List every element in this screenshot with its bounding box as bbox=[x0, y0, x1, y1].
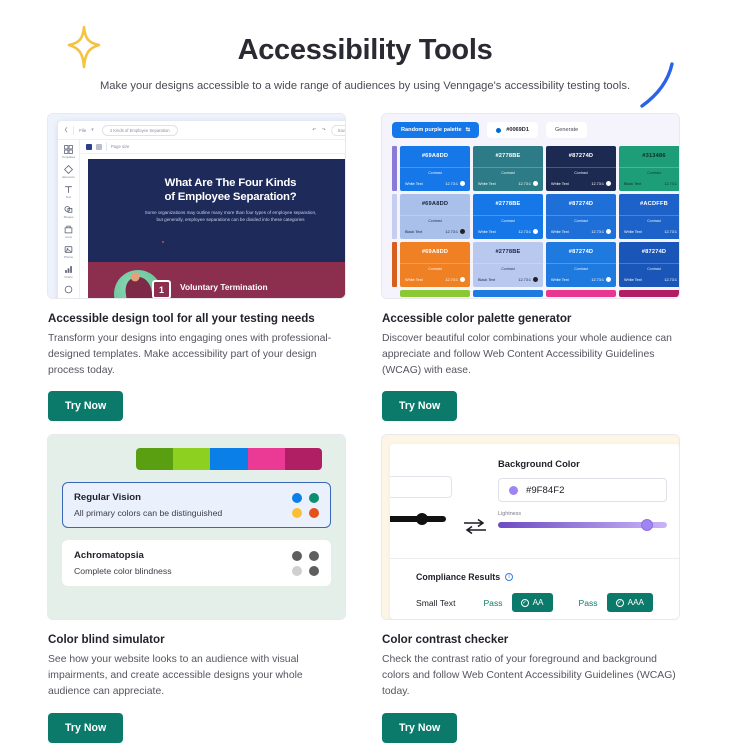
color-dot bbox=[309, 508, 319, 518]
redo-icon[interactable]: ↷ bbox=[322, 127, 326, 133]
palette-bottom-strip bbox=[400, 290, 679, 297]
lightness-slider[interactable] bbox=[498, 522, 667, 528]
swatch-contrast-label: Contrast bbox=[574, 171, 588, 175]
foreground-color-field[interactable] bbox=[390, 476, 452, 498]
page-size-label[interactable]: Page size bbox=[111, 144, 129, 149]
editor-sidebar: Templates Elements bbox=[58, 140, 80, 298]
sidebar-label: Charts bbox=[64, 275, 73, 279]
swatch-contrast-label: Contrast bbox=[574, 267, 588, 271]
check-circle-icon bbox=[533, 229, 538, 234]
swatch-ratio: 12.73:1 bbox=[518, 230, 531, 234]
swatch-text-mode: White Text bbox=[551, 230, 569, 234]
swatch-contrast-label: Contrast bbox=[501, 171, 515, 175]
vision-dots bbox=[292, 551, 319, 576]
try-now-button[interactable]: Try Now bbox=[48, 391, 123, 421]
palette-swatch[interactable]: #2778BEContrastBlack Text12.73:1 bbox=[473, 242, 543, 287]
lightness-label: Lightness bbox=[498, 511, 667, 517]
divider bbox=[473, 263, 543, 264]
swatch-contrast-label: Contrast bbox=[428, 171, 442, 175]
palette-swatch[interactable]: #87274DContrastWhite Text12.73:1 bbox=[546, 194, 616, 239]
swatch-text-mode: White Text bbox=[624, 278, 642, 282]
background-color-label: Background Color bbox=[498, 458, 667, 469]
tool-card-contrast: Background Color #9F84F2 Lightness bbox=[382, 435, 679, 742]
color-dot bbox=[292, 566, 302, 576]
swatch-contrast-label: Contrast bbox=[647, 219, 661, 223]
text-icon bbox=[64, 185, 73, 194]
badge-label: AA bbox=[533, 598, 544, 607]
sidebar-label: Templates bbox=[62, 155, 75, 159]
color-swatch bbox=[210, 448, 247, 470]
card-title: Color blind simulator bbox=[48, 633, 345, 646]
swatch-ratio: 12.73:1 bbox=[445, 278, 458, 282]
sidebar-label: Icons bbox=[65, 235, 72, 239]
palette-swatch[interactable]: #2778BEContrastWhite Text12.73:1 bbox=[473, 146, 543, 191]
swatch-hex: #87274D bbox=[569, 153, 594, 159]
photos-icon bbox=[64, 245, 73, 254]
check-circle-icon: ✓ bbox=[521, 599, 529, 607]
design-tool-thumbnail[interactable]: ❮ File ▾ 4 Kinds of Employee Separation … bbox=[48, 114, 345, 298]
art-heading-line1: What Are The Four Kinds bbox=[100, 176, 345, 190]
vision-dots bbox=[292, 493, 319, 518]
generate-button[interactable]: Generate bbox=[546, 122, 587, 138]
sidebar-item-templates[interactable]: Templates bbox=[62, 145, 75, 159]
card-description: See how your website looks to an audienc… bbox=[48, 652, 345, 699]
tool-card-design: ❮ File ▾ 4 Kinds of Employee Separation … bbox=[48, 114, 345, 421]
swatch-text-mode: White Text bbox=[551, 278, 569, 282]
swatch-text-mode: Black Text bbox=[624, 182, 641, 186]
card-description: Transform your designs into engaging one… bbox=[48, 331, 345, 378]
palette-rail bbox=[392, 146, 397, 297]
slider-knob[interactable] bbox=[416, 513, 428, 525]
swatch-ratio: 12.73:1 bbox=[518, 182, 531, 186]
compliance-badge-aaa: ✓ AAA bbox=[607, 593, 653, 612]
frames-icon bbox=[64, 285, 73, 294]
color-dot bbox=[309, 551, 319, 561]
divider bbox=[473, 167, 543, 168]
swatch-ratio: 12.73:1 bbox=[518, 278, 531, 282]
swoosh-icon bbox=[636, 62, 682, 108]
palette-toolbar: Random purple palette ⇆ #0069D1 Generate bbox=[392, 122, 679, 138]
swatch-ratio: 12.73:1 bbox=[664, 278, 677, 282]
card-description: Discover beautiful color combinations yo… bbox=[382, 331, 679, 378]
try-now-button[interactable]: Try Now bbox=[48, 713, 123, 743]
check-circle-icon bbox=[460, 277, 465, 282]
hex-input[interactable]: #0069D1 bbox=[487, 122, 538, 138]
art-step-number: 1 bbox=[152, 280, 171, 298]
swatch-ratio: 12.73:1 bbox=[445, 182, 458, 186]
palette-swatch[interactable]: #87274DContrastWhite Text12.73:1 bbox=[619, 242, 679, 287]
background-color-field[interactable]: #9F84F2 bbox=[498, 478, 667, 502]
palette-strip-swatch bbox=[400, 290, 470, 297]
sidebar-label: Photos bbox=[64, 255, 73, 259]
page-title: Accessibility Tools bbox=[0, 34, 730, 67]
vision-mode-name: Achromatopsia bbox=[74, 550, 172, 561]
vision-mode-achromatopsia[interactable]: Achromatopsia Complete color blindness bbox=[62, 540, 331, 586]
card-title: Color contrast checker bbox=[382, 633, 679, 646]
divider bbox=[619, 263, 679, 264]
check-circle-icon bbox=[533, 181, 538, 186]
background-hex-value: #9F84F2 bbox=[526, 485, 564, 496]
palette-strip-swatch bbox=[473, 290, 543, 297]
color-dot bbox=[292, 508, 302, 518]
swatch-ratio: 12.73:1 bbox=[664, 230, 677, 234]
color-blind-simulator-thumbnail[interactable]: Regular Vision All primary colors can be… bbox=[48, 435, 345, 619]
swatch-hex: #2778BE bbox=[495, 201, 520, 207]
swatch-contrast-label: Contrast bbox=[574, 219, 588, 223]
swatch-text-mode: White Text bbox=[405, 182, 423, 186]
art-heading-line2: of Employee Separation? bbox=[100, 190, 345, 204]
cursor-dot bbox=[162, 241, 164, 243]
divider bbox=[546, 263, 616, 264]
divider bbox=[546, 215, 616, 216]
sidebar-item-text[interactable]: Text bbox=[64, 185, 73, 199]
random-palette-button[interactable]: Random purple palette ⇆ bbox=[392, 122, 479, 138]
saved-status: Saved bbox=[331, 125, 345, 136]
swatch-ratio: 12.73:1 bbox=[591, 182, 604, 186]
swap-arrows-icon[interactable] bbox=[452, 458, 498, 558]
palette-swatch[interactable]: #69A8DDContrastBlack Text12.73:1 bbox=[400, 194, 470, 239]
divider bbox=[546, 167, 616, 168]
check-circle-icon bbox=[533, 277, 538, 282]
grid-icon[interactable] bbox=[96, 144, 102, 150]
check-circle-icon: ✓ bbox=[616, 599, 624, 607]
sidebar-item-charts[interactable]: Charts bbox=[64, 265, 73, 279]
icons-icon bbox=[64, 225, 73, 234]
divider bbox=[106, 142, 107, 151]
page-header: Accessibility Tools Make your designs ac… bbox=[0, 0, 730, 92]
swatch-text-mode: White Text bbox=[624, 230, 642, 234]
sparkle-icon bbox=[62, 23, 106, 71]
card-description: Check the contrast ratio of your foregro… bbox=[382, 652, 679, 699]
badge-label: AAA bbox=[628, 598, 644, 607]
color-dot bbox=[292, 493, 302, 503]
swatch-hex: #87274D bbox=[569, 201, 594, 207]
check-circle-icon bbox=[606, 277, 611, 282]
card-title: Accessible color palette generator bbox=[382, 312, 679, 325]
slider-knob[interactable] bbox=[641, 519, 653, 531]
card-title: Accessible design tool for all your test… bbox=[48, 312, 345, 325]
palette-strip-swatch bbox=[619, 290, 679, 297]
sidebar-label: Shapes bbox=[64, 215, 74, 219]
divider bbox=[619, 215, 679, 216]
color-swatch bbox=[136, 448, 173, 470]
canvas-artboard: What Are The Four Kinds of Employee Sepa… bbox=[88, 159, 345, 298]
palette-swatch[interactable]: #87274DContrastWhite Text12.73:1 bbox=[546, 242, 616, 287]
palette-grid: #69A8DDContrastWhite Text12.73:1#2778BEC… bbox=[400, 146, 679, 287]
color-swatch bbox=[248, 448, 285, 470]
sidebar-item-icons[interactable]: Icons bbox=[64, 225, 73, 239]
palette-generator-thumbnail[interactable]: Random purple palette ⇆ #0069D1 Generate bbox=[382, 114, 679, 298]
filename-field[interactable]: 4 Kinds of Employee Separation bbox=[102, 125, 178, 136]
check-circle-icon bbox=[606, 181, 611, 186]
divider bbox=[400, 263, 470, 264]
swatch-contrast-label: Contrast bbox=[647, 171, 661, 175]
palette-strip-swatch bbox=[546, 290, 616, 297]
color-dot-icon bbox=[509, 486, 518, 495]
tools-grid: ❮ File ▾ 4 Kinds of Employee Separation … bbox=[0, 114, 730, 743]
swatch-hex: #69A8DD bbox=[422, 249, 448, 255]
swatch-text-mode: Black Text bbox=[405, 230, 422, 234]
compliance-row-label: Small Text bbox=[416, 598, 483, 608]
palette-row: #69A8DDContrastWhite Text12.73:1#2778BEC… bbox=[400, 242, 679, 287]
compliance-status-aa: Pass bbox=[483, 598, 511, 608]
color-swatch bbox=[173, 448, 210, 470]
art-paragraph-line2: but generally, employee separations can … bbox=[104, 217, 345, 224]
tool-card-palette: Random purple palette ⇆ #0069D1 Generate bbox=[382, 114, 679, 421]
file-menu[interactable]: File bbox=[79, 128, 86, 133]
swatch-text-mode: White Text bbox=[478, 182, 496, 186]
compliance-results-title: Compliance Results bbox=[416, 572, 500, 582]
sidebar-label: Text bbox=[66, 195, 71, 199]
templates-icon bbox=[64, 145, 73, 154]
hex-value: #0069D1 bbox=[506, 127, 529, 133]
color-dot bbox=[309, 566, 319, 576]
elements-icon bbox=[64, 165, 73, 174]
palette-swatch[interactable]: #69A8DDContrastWhite Text12.73:1 bbox=[400, 146, 470, 191]
swatch-hex: #2778BE bbox=[495, 249, 520, 255]
swatch-ratio: 12.73:1 bbox=[591, 278, 604, 282]
swatch-contrast-label: Contrast bbox=[647, 267, 661, 271]
charts-icon bbox=[64, 265, 73, 274]
art-item-title: Voluntary Termination bbox=[180, 282, 268, 292]
chevron-down-icon: ▾ bbox=[91, 127, 94, 133]
info-icon[interactable]: i bbox=[505, 573, 513, 581]
sidebar-item-shapes[interactable]: Shapes bbox=[64, 205, 74, 219]
swatch-contrast-label: Contrast bbox=[501, 267, 515, 271]
sidebar-item-photos[interactable]: Photos bbox=[64, 245, 73, 259]
swatch-contrast-label: Contrast bbox=[501, 219, 515, 223]
compliance-row: Small Text Pass ✓ AA Pass ✓ AAA bbox=[416, 593, 679, 612]
color-dot bbox=[309, 493, 319, 503]
swatch-contrast-label: Contrast bbox=[428, 267, 442, 271]
try-now-button[interactable]: Try Now bbox=[382, 391, 457, 421]
swatch-text-mode: White Text bbox=[551, 182, 569, 186]
divider bbox=[73, 126, 74, 135]
vision-mode-name: Regular Vision bbox=[74, 492, 222, 503]
swatch-contrast-label: Contrast bbox=[428, 219, 442, 223]
palette-row: #69A8DDContrastBlack Text12.73:1#2778BEC… bbox=[400, 194, 679, 239]
swatch-text-mode: Black Text bbox=[478, 278, 495, 282]
vision-mode-regular[interactable]: Regular Vision All primary colors can be… bbox=[62, 482, 331, 528]
sidebar-item-frames[interactable] bbox=[64, 285, 73, 294]
swatch-ratio: 12.73:1 bbox=[664, 182, 677, 186]
swatch-hex: #69A8DD bbox=[422, 201, 448, 207]
vision-mode-desc: All primary colors can be distinguished bbox=[74, 508, 222, 518]
try-now-button[interactable]: Try Now bbox=[382, 713, 457, 743]
swatch-hex: #69A8DD bbox=[422, 153, 448, 159]
foreground-lightness-slider[interactable] bbox=[390, 516, 446, 522]
contrast-checker-thumbnail[interactable]: Background Color #9F84F2 Lightness bbox=[382, 435, 679, 619]
palette-swatch[interactable]: #ACDFFBContrastWhite Text12.73:1 bbox=[619, 194, 679, 239]
sidebar-label: Elements bbox=[62, 175, 74, 179]
random-palette-label: Random purple palette bbox=[401, 127, 462, 133]
compliance-status-aaa: Pass bbox=[579, 598, 607, 608]
color-swatch-icon[interactable] bbox=[86, 144, 92, 150]
color-swatch bbox=[285, 448, 322, 470]
divider bbox=[400, 215, 470, 216]
sidebar-item-elements[interactable]: Elements bbox=[62, 165, 74, 179]
palette-swatch[interactable]: #2778BEContrastWhite Text12.73:1 bbox=[473, 194, 543, 239]
art-paragraph-line1: Some organizations may outline many more… bbox=[104, 210, 345, 217]
shuffle-icon: ⇆ bbox=[466, 127, 471, 133]
swatch-hex: #87274D bbox=[642, 249, 667, 255]
page-subtitle: Make your designs accessible to a wide r… bbox=[0, 80, 730, 92]
swatch-ratio: 12.73:1 bbox=[445, 230, 458, 234]
palette-row: #69A8DDContrastWhite Text12.73:1#2778BEC… bbox=[400, 146, 679, 191]
person-figure bbox=[124, 275, 154, 298]
swatch-text-mode: White Text bbox=[405, 278, 423, 282]
chevron-left-icon: ❮ bbox=[64, 127, 68, 133]
check-circle-icon bbox=[606, 229, 611, 234]
undo-icon[interactable]: ↶ bbox=[312, 127, 316, 133]
divider bbox=[619, 167, 679, 168]
shapes-icon bbox=[64, 205, 73, 214]
color-dot bbox=[292, 551, 302, 561]
swatch-hex: #87274D bbox=[569, 249, 594, 255]
color-dot-icon bbox=[496, 128, 501, 133]
color-swatch-bar bbox=[136, 448, 322, 470]
swatch-text-mode: White Text bbox=[478, 230, 496, 234]
divider bbox=[400, 167, 470, 168]
swatch-hex: #313486 bbox=[642, 153, 666, 159]
tool-card-colorblind: Regular Vision All primary colors can be… bbox=[48, 435, 345, 742]
palette-swatch[interactable]: #69A8DDContrastWhite Text12.73:1 bbox=[400, 242, 470, 287]
swatch-hex: #2778BE bbox=[495, 153, 520, 159]
compliance-badge-aa: ✓ AA bbox=[512, 593, 553, 612]
vision-mode-desc: Complete color blindness bbox=[74, 566, 172, 576]
palette-swatch[interactable]: #87274DContrastWhite Text12.73:1 bbox=[546, 146, 616, 191]
check-circle-icon bbox=[460, 229, 465, 234]
swatch-ratio: 12.73:1 bbox=[591, 230, 604, 234]
palette-swatch[interactable]: #313486ContrastBlack Text12.73:1 bbox=[619, 146, 679, 191]
swatch-hex: #ACDFFB bbox=[640, 201, 668, 207]
check-circle-icon bbox=[460, 181, 465, 186]
divider bbox=[473, 215, 543, 216]
